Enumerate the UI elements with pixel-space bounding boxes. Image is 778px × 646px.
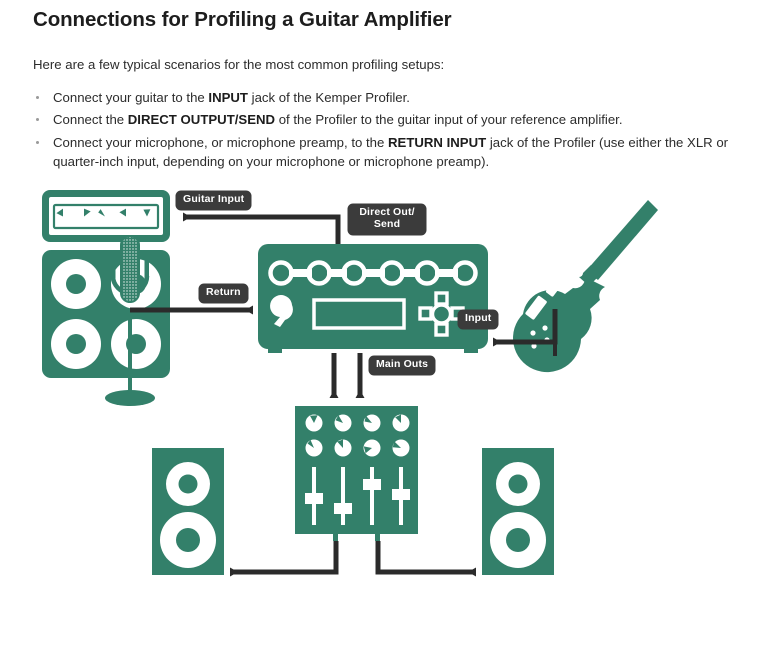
label-direct-out-line1: Direct Out/ <box>359 206 414 218</box>
label-input: Input <box>458 310 498 329</box>
bullet-text-pre: Connect your guitar to the <box>53 90 208 105</box>
bullet-text-post: of the Profiler to the guitar input of y… <box>275 112 622 127</box>
label-direct-out-send: Direct Out/ Send <box>348 204 426 235</box>
intro-paragraph: Here are a few typical scenarios for the… <box>33 55 745 74</box>
bullet-text-pre: Connect your microphone, or microphone p… <box>53 135 388 150</box>
bullet-emphasis: INPUT <box>208 90 248 105</box>
bullet-text-post: jack of the Kemper Profiler. <box>248 90 410 105</box>
page-root: Connections for Profiling a Guitar Ampli… <box>0 0 778 646</box>
bullet-emphasis: RETURN INPUT <box>388 135 486 150</box>
profiler-device <box>258 244 488 353</box>
speaker-cabinet-device <box>42 250 170 378</box>
document-body: Connections for Profiling a Guitar Ampli… <box>33 8 745 174</box>
bullet-text-pre: Connect the <box>53 112 128 127</box>
monitor-left-device <box>152 448 224 575</box>
instruction-list: Connect your guitar to the INPUT jack of… <box>33 88 745 172</box>
label-main-outs: Main Outs <box>369 356 435 375</box>
label-direct-out-line2: Send <box>374 218 400 230</box>
list-item: Connect your guitar to the INPUT jack of… <box>33 88 745 107</box>
list-item: Connect the DIRECT OUTPUT/SEND of the Pr… <box>33 110 745 129</box>
arrow-direct-out-send <box>183 217 338 244</box>
bullet-emphasis: DIRECT OUTPUT/SEND <box>128 112 275 127</box>
list-item: Connect your microphone, or microphone p… <box>33 133 745 172</box>
mixer-device <box>295 406 418 541</box>
label-return: Return <box>199 284 248 303</box>
monitor-right-device <box>482 448 554 575</box>
page-title: Connections for Profiling a Guitar Ampli… <box>33 8 745 33</box>
arrow-mixer-to-left-monitor <box>230 541 336 572</box>
amp-head-device <box>42 190 170 242</box>
label-guitar-input: Guitar Input <box>176 191 251 210</box>
arrow-mixer-to-right-monitor <box>378 541 476 572</box>
connection-diagram <box>0 176 778 646</box>
